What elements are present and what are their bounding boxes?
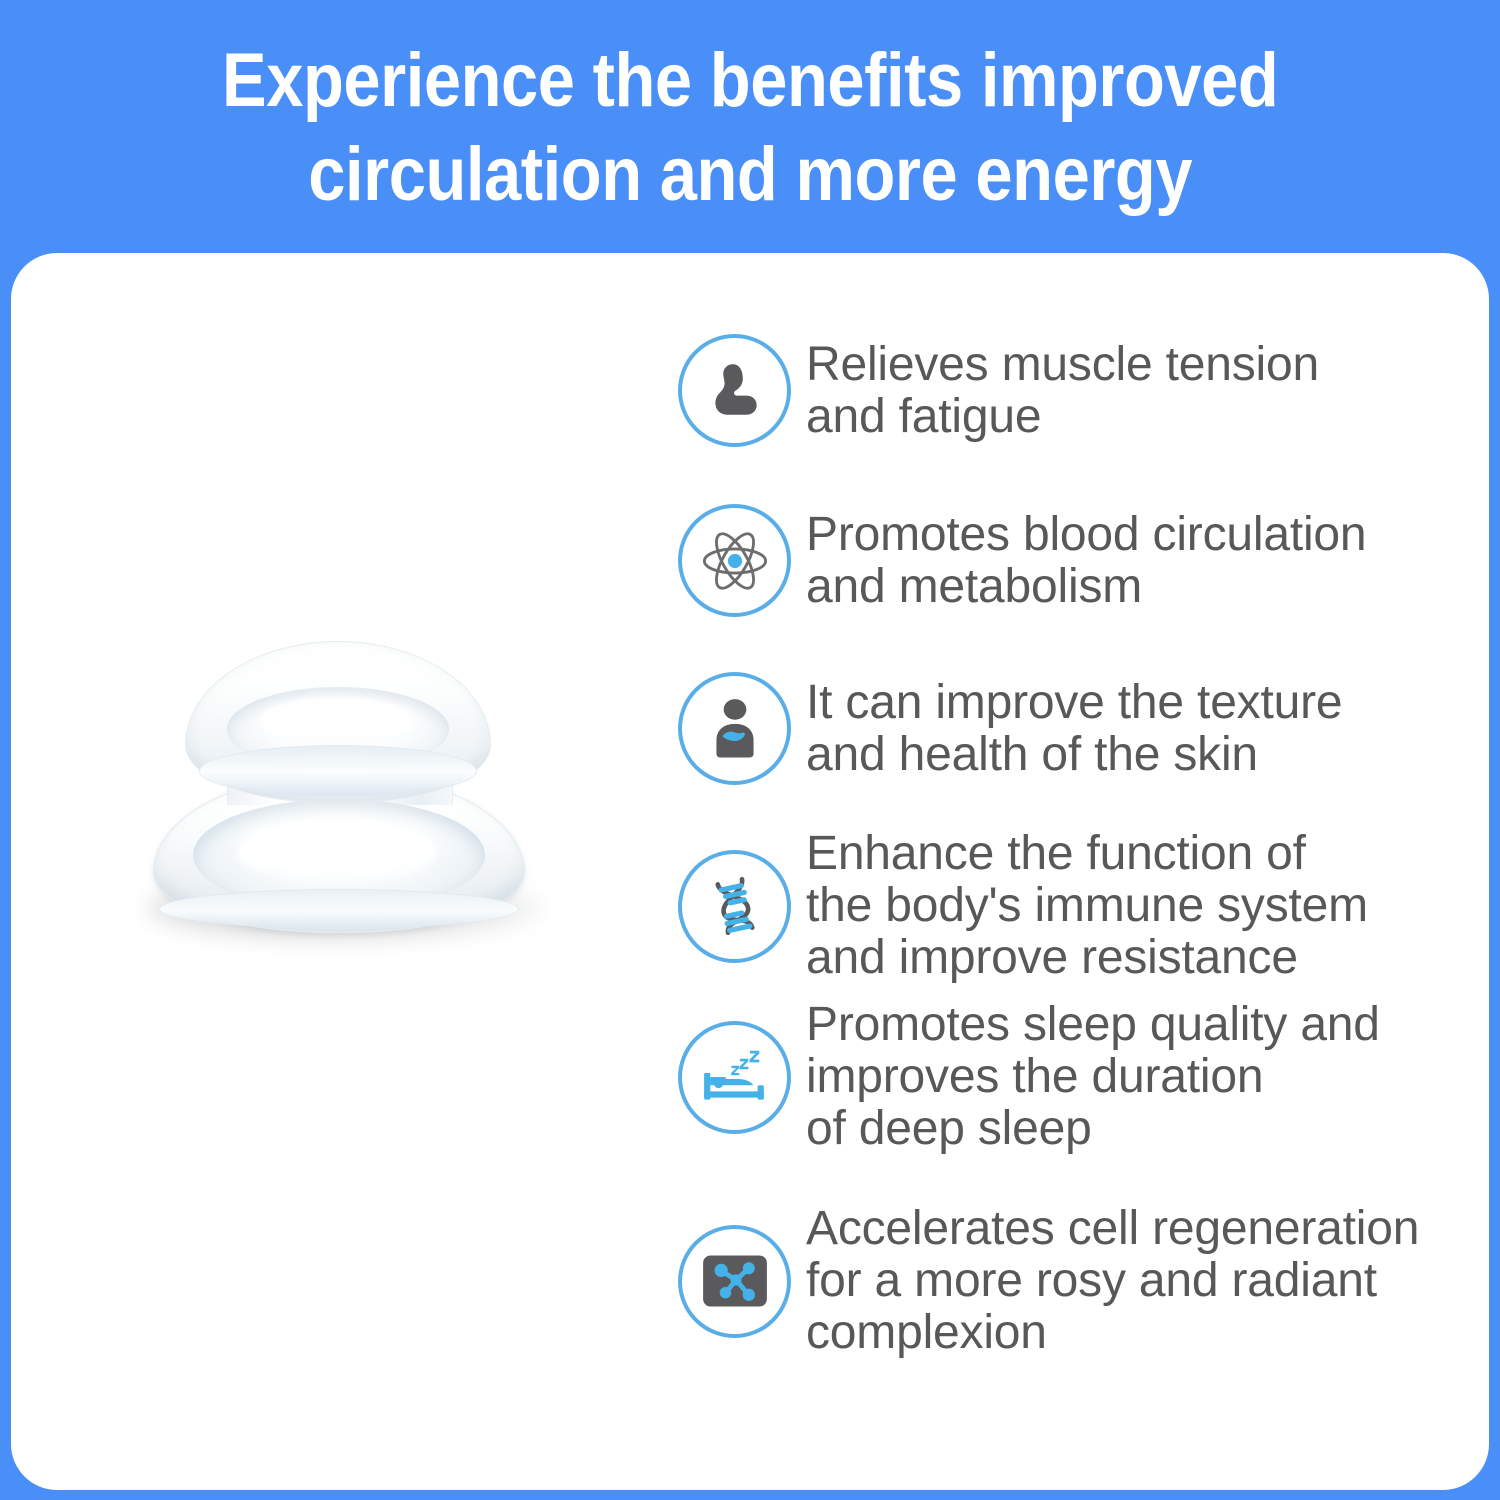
headline-line-1: Experience the benefits improved <box>222 34 1278 128</box>
cup-upper-highlight <box>259 697 415 745</box>
benefit-item-sleep-quality: Promotes sleep quality and improves the … <box>678 999 1380 1155</box>
benefit-item-cell-regeneration: Accelerates cell regeneration for a more… <box>678 1203 1419 1359</box>
silicone-cupping-cup-image <box>141 633 571 983</box>
flexed-bicep-icon <box>678 334 791 447</box>
cup-lower-highlight <box>237 819 437 885</box>
benefit-label: Promotes sleep quality and improves the … <box>806 999 1380 1155</box>
product-image-pane <box>11 253 661 1490</box>
benefits-list: Relieves muscle tension and fatigue Prom… <box>661 253 1489 1490</box>
benefit-item-muscle-tension: Relieves muscle tension and fatigue <box>678 334 1319 447</box>
benefit-item-blood-circulation: Promotes blood circulation and metabolis… <box>678 504 1366 617</box>
dna-helix-icon <box>678 850 791 963</box>
benefit-item-skin-texture: It can improve the texture and health of… <box>678 672 1342 785</box>
cup-lower-rim <box>159 889 519 929</box>
headline-line-2: circulation and more energy <box>308 128 1192 222</box>
content-card: Relieves muscle tension and fatigue Prom… <box>11 253 1489 1490</box>
benefit-label: Promotes blood circulation and metabolis… <box>806 509 1366 613</box>
benefit-item-immune-system: Enhance the function of the body's immun… <box>678 828 1368 984</box>
atom-icon <box>678 504 791 617</box>
product-infographic: Experience the benefits improved circula… <box>0 0 1500 1500</box>
molecule-network-icon <box>678 1225 791 1338</box>
header-banner: Experience the benefits improved circula… <box>0 0 1500 250</box>
benefit-label: It can improve the texture and health of… <box>806 677 1342 781</box>
benefit-label: Accelerates cell regeneration for a more… <box>806 1203 1419 1359</box>
sleeping-bed-icon <box>678 1021 791 1134</box>
cup-upper-rim <box>199 745 477 797</box>
benefit-label: Relieves muscle tension and fatigue <box>806 339 1319 443</box>
person-skin-icon <box>678 672 791 785</box>
benefit-label: Enhance the function of the body's immun… <box>806 828 1368 984</box>
